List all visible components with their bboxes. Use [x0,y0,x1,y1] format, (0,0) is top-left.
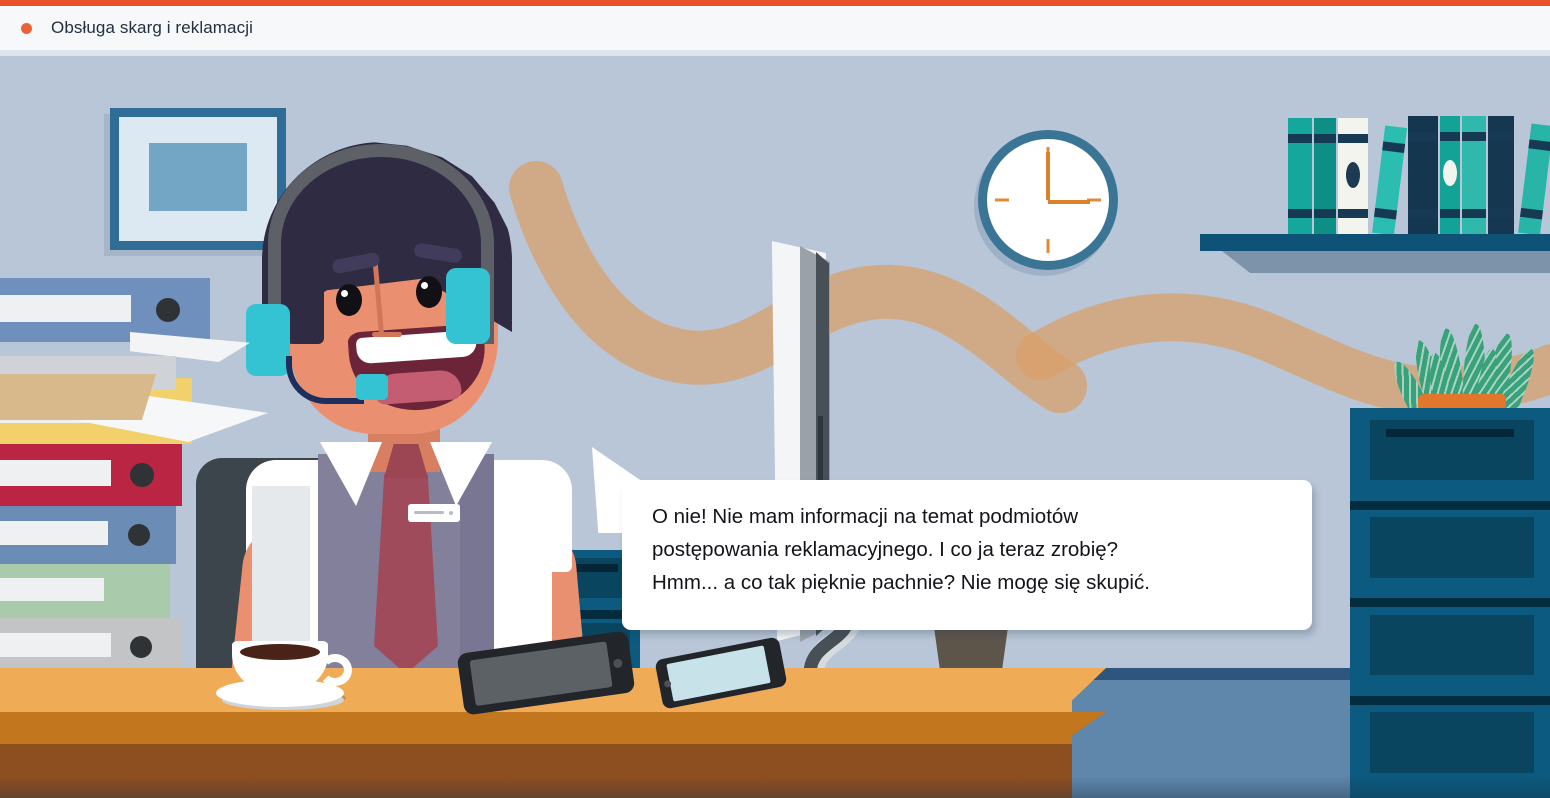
binder-label [0,295,131,322]
illustration-scene: O nie! Nie mam informacji na temat podmi… [0,56,1550,798]
binder-steel [0,506,176,564]
cabinet-drawer [1370,615,1534,675]
binder-ring [128,524,150,546]
headset-earpad-right [446,268,490,344]
speech-bubble-text: O nie! Nie mam informacji na temat podmi… [652,500,1290,599]
loose-paper [0,374,156,420]
page-root: Obsługa skarg i reklamacji [0,0,1550,798]
floor-gradient [0,776,1550,798]
binder-red [0,444,182,506]
tablet-screen [470,641,613,706]
pocket-line [414,511,444,514]
speech-line-2: postępowania reklamacyjnego. I co ja ter… [652,533,1290,566]
binder-blue [0,278,210,342]
speech-line-3: Hmm... a co tak pięknie pachnie? Nie mog… [652,566,1290,599]
vest-pocket [408,504,460,522]
drawer-separator [1350,501,1550,510]
page-header: Obsługa skarg i reklamacji [0,6,1550,50]
drawer-separator [1350,598,1550,607]
filing-cabinet-right [1350,408,1550,798]
binder-label [0,460,111,486]
headset-earpad-left [246,304,290,376]
binder-ring [156,298,180,322]
desk-edge [0,712,1072,744]
speech-line-1: O nie! Nie mam informacji na temat podmi… [652,500,1290,533]
binder-label [0,521,108,545]
tablet-home-button [613,658,623,668]
cabinet-drawer [1370,517,1534,577]
coffee-liquid [240,644,320,660]
binder-ring [130,463,154,487]
cabinet-drawer [1370,712,1534,772]
bullet-dot-icon [21,23,32,34]
pocket-dot [449,511,453,515]
speech-bubble: O nie! Nie mam informacji na temat podmi… [622,480,1312,630]
binder-green [0,564,170,618]
binder-label [0,633,111,657]
page-title: Obsługa skarg i reklamacji [51,18,253,38]
headset-mic-tip [356,374,388,400]
drawer-separator [1350,696,1550,705]
drawer-handle [1386,429,1514,437]
binder-label [0,578,104,601]
binder-ring [130,636,152,658]
